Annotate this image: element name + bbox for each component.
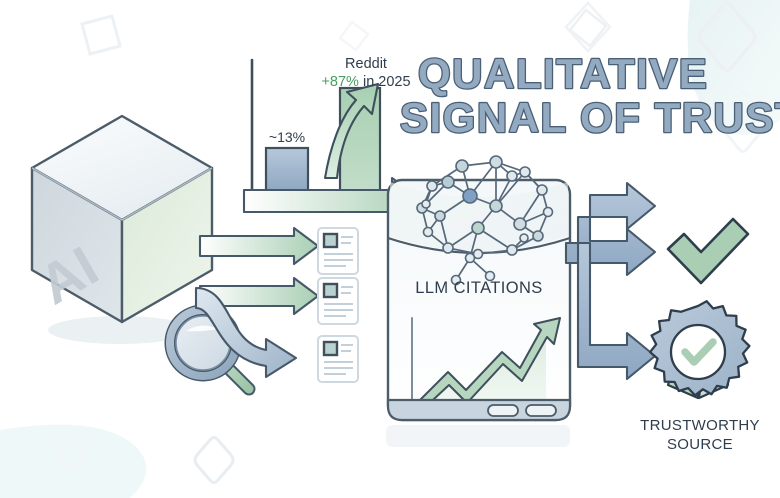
llm-device: LLM CITATIONS: [386, 156, 570, 447]
infographic-svg: AI ~13% Wikipedia Reddit: [0, 0, 780, 498]
device-shadow: [386, 425, 570, 447]
bar-value-label-wikipedia: ~13%: [269, 129, 305, 145]
document-thumbnail: [324, 342, 337, 355]
document-card: [318, 336, 358, 382]
infographic-canvas: AI ~13% Wikipedia Reddit: [0, 0, 780, 498]
annotation-headline: Reddit: [345, 56, 387, 72]
document-cards: [318, 228, 358, 382]
document-thumbnail: [324, 234, 337, 247]
badge-caption-line2: SOURCE: [667, 436, 733, 453]
document-card: [318, 228, 358, 274]
title-line-2: SIGNAL OF TRUST: [400, 94, 780, 141]
device-home-button-1[interactable]: [488, 405, 518, 416]
annotation-delta-value: +87%: [321, 74, 359, 90]
document-card: [318, 278, 358, 324]
document-thumbnail: [324, 284, 337, 297]
device-home-button-2[interactable]: [526, 405, 556, 416]
annotation-delta: +87% in 2025: [321, 74, 410, 90]
annotation-delta-suffix: in 2025: [359, 74, 411, 90]
title-line-1: QUALITATIVE: [418, 50, 708, 97]
badge-caption-line1: TRUSTWORTHY: [640, 417, 760, 434]
bar-wikipedia: [266, 148, 308, 192]
device-panel-label: LLM CITATIONS: [415, 279, 542, 297]
badge-inner-circle: [671, 325, 725, 379]
